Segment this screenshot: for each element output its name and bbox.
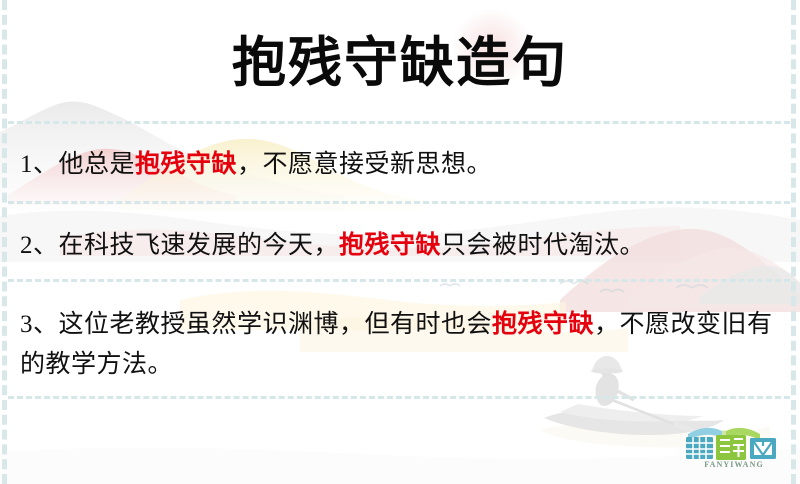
sentence-1-before: 他总是	[59, 151, 136, 178]
sentence-1-idiom: 抱残守缺	[135, 151, 237, 178]
fanyiwang-logo-icon	[682, 424, 786, 464]
page-title: 抱残守缺造句	[0, 26, 800, 98]
separator-line-2	[8, 201, 790, 204]
separator-line-1	[8, 121, 790, 124]
list-item-sentence-2: 2、在科技飞速发展的今天，抱残守缺只会被时代淘汰。	[20, 226, 645, 266]
sentence-2-before: 在科技飞速发展的今天，	[59, 232, 340, 259]
sentence-3-idiom: 抱残守缺	[492, 311, 594, 338]
logo-subtitle: FANYIWANG	[682, 460, 786, 469]
separator-line-3	[8, 279, 790, 282]
sentence-3-number: 3、	[20, 311, 59, 338]
sentence-3-before: 这位老教授虽然学识渊博，但有时也会	[59, 311, 493, 338]
list-item-sentence-1: 1、他总是抱残守缺，不愿意接受新思想。	[20, 145, 492, 185]
sentence-2-number: 2、	[20, 232, 59, 259]
separator-line-4	[8, 396, 790, 399]
sentence-2-idiom: 抱残守缺	[339, 232, 441, 259]
site-logo[interactable]: FANYIWANG	[682, 424, 786, 478]
sentence-2-after: 只会被时代淘汰。	[441, 232, 645, 259]
slide-canvas: 抱残守缺造句 1、他总是抱残守缺，不愿意接受新思想。 2、在科技飞速发展的今天，…	[0, 0, 800, 484]
list-item-sentence-3: 3、这位老教授虽然学识渊博，但有时也会抱残守缺，不愿改变旧有的教学方法。	[20, 305, 782, 385]
sentence-1-number: 1、	[20, 151, 59, 178]
sentence-1-after: ，不愿意接受新思想。	[237, 151, 492, 178]
